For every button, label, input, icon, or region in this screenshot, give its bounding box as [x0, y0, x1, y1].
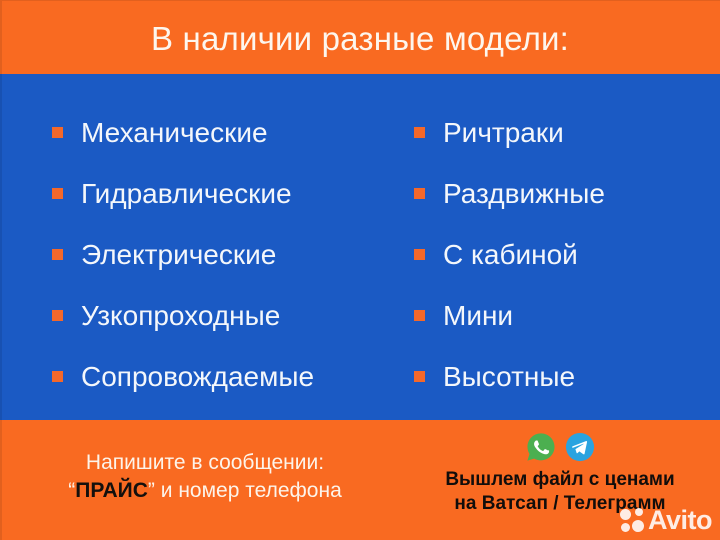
listing-poster: В наличии разные модели: Механические Ги…	[0, 0, 720, 540]
list-item: Гидравлические	[52, 163, 400, 224]
list-item-label: Мини	[443, 302, 513, 330]
footer-instruction-rest: и номер телефона	[155, 479, 342, 502]
header-band: В наличии разные модели:	[0, 0, 720, 74]
messenger-icon-row	[400, 432, 720, 462]
list-item: С кабиной	[414, 224, 720, 285]
list-item-label: Ричтраки	[443, 119, 564, 147]
square-bullet-icon	[414, 249, 425, 260]
square-bullet-icon	[52, 249, 63, 260]
footer-inner: Напишите в сообщении: “ПРАЙС” и номер те…	[0, 420, 720, 540]
footer-band: Напишите в сообщении: “ПРАЙС” и номер те…	[0, 420, 720, 540]
page-title: В наличии разные модели:	[151, 20, 569, 55]
list-item: Мини	[414, 285, 720, 346]
list-item-label: Механические	[81, 119, 268, 147]
list-item-label: Раздвижные	[443, 180, 605, 208]
messenger-note-line1: Вышлем файл с ценами	[400, 468, 720, 492]
square-bullet-icon	[52, 310, 63, 321]
telegram-icon[interactable]	[565, 432, 595, 462]
list-item: Ричтраки	[414, 102, 720, 163]
square-bullet-icon	[414, 310, 425, 321]
list-item: Электрические	[52, 224, 400, 285]
whatsapp-icon[interactable]	[526, 432, 556, 462]
list-item-label: Гидравлические	[81, 180, 292, 208]
footer-instructions: Напишите в сообщении: “ПРАЙС” и номер те…	[0, 420, 400, 540]
square-bullet-icon	[414, 188, 425, 199]
square-bullet-icon	[52, 127, 63, 138]
footer-instruction-line1: Напишите в сообщении:	[10, 449, 400, 477]
footer-messengers: Вышлем файл с ценами на Ватсап / Телегра…	[400, 420, 720, 540]
list-item-label: Высотные	[443, 363, 575, 391]
models-column-right: Ричтраки Раздвижные С кабиной Мини Высот…	[400, 74, 720, 420]
list-item-label: С кабиной	[443, 241, 578, 269]
price-keyword: ПРАЙС	[75, 479, 148, 502]
list-item: Узкопроходные	[52, 285, 400, 346]
messenger-note-line2: на Ватсап / Телеграмм	[400, 492, 720, 516]
square-bullet-icon	[414, 371, 425, 382]
square-bullet-icon	[52, 371, 63, 382]
models-columns: Механические Гидравлические Электрически…	[0, 74, 720, 420]
list-item: Высотные	[414, 346, 720, 407]
list-item: Сопровождаемые	[52, 346, 400, 407]
list-item-label: Электрические	[81, 241, 276, 269]
models-column-left: Механические Гидравлические Электрически…	[0, 74, 400, 420]
models-section: Механические Гидравлические Электрически…	[0, 74, 720, 420]
square-bullet-icon	[414, 127, 425, 138]
quote-close: ”	[148, 479, 155, 502]
list-item-label: Узкопроходные	[81, 302, 280, 330]
list-item-label: Сопровождаемые	[81, 363, 314, 391]
list-item: Механические	[52, 102, 400, 163]
square-bullet-icon	[52, 188, 63, 199]
footer-instruction-line2: “ПРАЙС” и номер телефона	[10, 477, 400, 505]
list-item: Раздвижные	[414, 163, 720, 224]
